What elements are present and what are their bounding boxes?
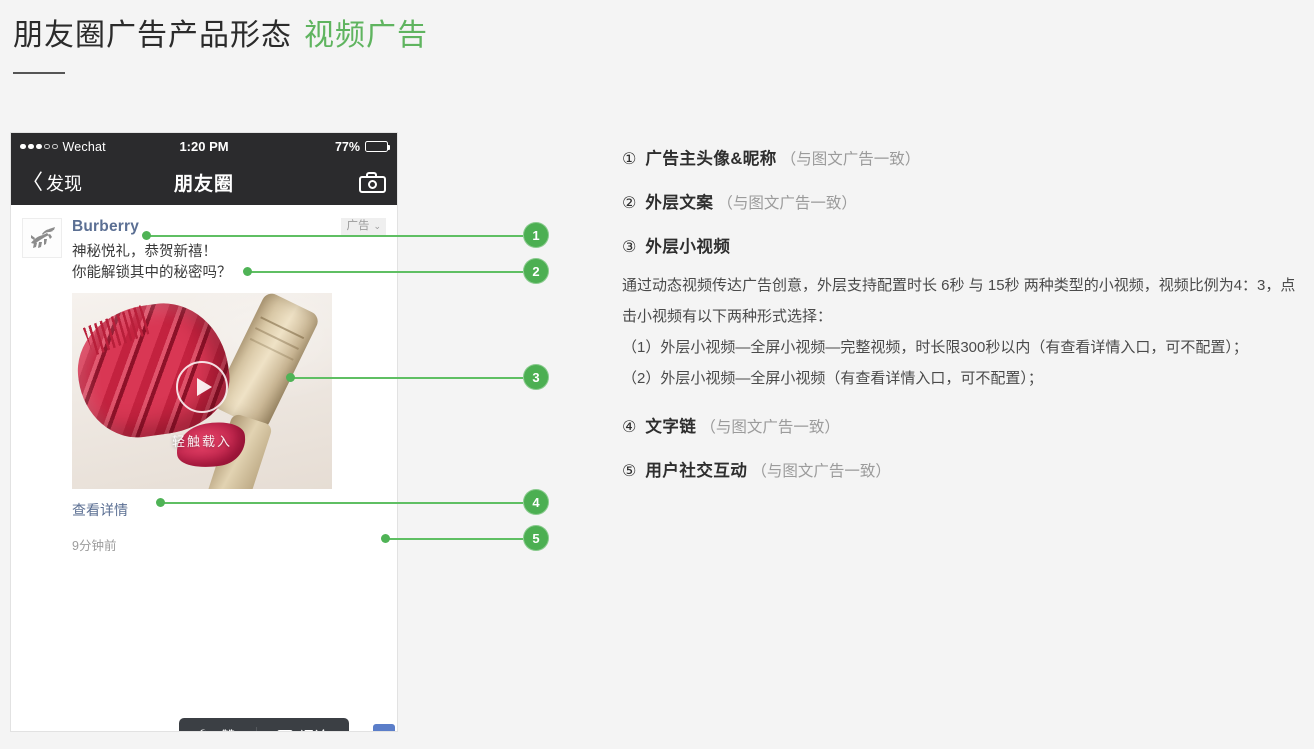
carrier-label: Wechat (63, 140, 106, 154)
post-text-line-2: 你能解锁其中的秘密吗？ (72, 263, 386, 284)
social-action-bar: 赞 评论 (179, 718, 349, 731)
legend-item-body: 通过动态视频传达广告创意，外层支持配置时长 6秒 与 15秒 两种类型的小视频，… (622, 270, 1298, 394)
advertiser-name[interactable]: Burberry (72, 218, 139, 236)
legend-item-note: （与图文广告一致） (781, 147, 921, 173)
status-bar-clock: 1:20 PM (179, 139, 228, 154)
legend-item-3: ③ 外层小视频 通过动态视频传达广告创意，外层支持配置时长 6秒 与 15秒 两… (622, 234, 1298, 394)
video-load-hint: 轻触载入 (72, 431, 332, 450)
advertiser-avatar[interactable] (22, 218, 62, 258)
legend-item-heading: ③ 外层小视频 (622, 234, 1298, 261)
callout-badge-label: 3 (532, 370, 539, 385)
callout-badge-label: 4 (532, 495, 539, 510)
legend-item-heading: ⑤ 用户社交互动 （与图文广告一致） (622, 458, 1298, 485)
post-header-row: Burberry 广告 ⌄ (72, 218, 386, 236)
legend-item-label: 外层文案 (645, 190, 713, 216)
status-bar-left: Wechat (20, 140, 179, 154)
legend-item-label: 广告主头像&昵称 (645, 146, 776, 172)
nav-bar-right (234, 172, 386, 193)
comment-label: 评论 (300, 726, 329, 731)
page-title-main: 朋友圈广告产品形态 (13, 19, 292, 52)
callout-badge-2[interactable]: 2 (523, 258, 549, 284)
more-actions-button[interactable] (373, 724, 395, 731)
back-button[interactable]: 〈 发现 (22, 170, 174, 196)
ad-label-badge[interactable]: 广告 ⌄ (341, 218, 386, 235)
legend-item-5: ⑤ 用户社交互动 （与图文广告一致） (622, 458, 1298, 485)
legend-item-heading: ② 外层文案 （与图文广告一致） (622, 190, 1298, 217)
burberry-knight-logo-icon (25, 221, 59, 255)
page-title: 朋友圈广告产品形态视频广告 (13, 14, 713, 58)
legend-item-number: ② (622, 191, 636, 217)
legend-item-number: ⑤ (622, 459, 636, 485)
legend-panel: ① 广告主头像&昵称 （与图文广告一致） ② 外层文案 （与图文广告一致） ③ … (622, 146, 1298, 502)
legend-item-number: ④ (622, 415, 636, 441)
legend-item-label: 文字链 (645, 414, 696, 440)
post-content: Burberry 广告 ⌄ 神秘悦礼，恭贺新禧！ 你能解锁其中的秘密吗？ (72, 218, 386, 558)
legend-body-paragraph: 通过动态视频传达广告创意，外层支持配置时长 6秒 与 15秒 两种类型的小视频，… (622, 270, 1298, 332)
callout-badge-4[interactable]: 4 (523, 489, 549, 515)
back-button-label: 发现 (46, 170, 82, 196)
chevron-left-icon: 〈 (22, 172, 43, 193)
video-thumbnail[interactable]: 轻触载入 (72, 293, 332, 489)
chevron-down-icon: ⌄ (373, 219, 381, 233)
moments-ad-post: Burberry 广告 ⌄ 神秘悦礼，恭贺新禧！ 你能解锁其中的秘密吗？ (11, 205, 397, 558)
legend-item-label: 用户社交互动 (645, 458, 747, 484)
post-text: 神秘悦礼，恭贺新禧！ 你能解锁其中的秘密吗？ (72, 242, 386, 284)
callout-badge-1[interactable]: 1 (523, 222, 549, 248)
nav-title: 朋友圈 (174, 169, 234, 196)
legend-item-1: ① 广告主头像&昵称 （与图文广告一致） (622, 146, 1298, 173)
camera-icon[interactable] (359, 172, 386, 193)
ad-label-text: 广告 (346, 219, 369, 233)
nav-bar: 〈 发现 朋友圈 (11, 160, 397, 205)
play-button-icon[interactable] (176, 361, 228, 413)
post-timestamp: 9分钟前 (72, 535, 116, 554)
status-bar: Wechat 1:20 PM 77% (11, 133, 397, 160)
callout-badge-label: 2 (532, 264, 539, 279)
like-button[interactable]: 赞 (179, 726, 256, 731)
page-header: 朋友圈广告产品形态视频广告 (13, 14, 713, 74)
view-detail-link[interactable]: 查看详情 (72, 500, 128, 520)
comment-button[interactable]: 评论 (257, 726, 349, 731)
callout-badge-label: 1 (532, 228, 539, 243)
legend-body-option-2: （2）外层小视频—全屏小视频（有查看详情入口，可不配置）； (622, 363, 1298, 394)
page-title-accent: 视频广告 (304, 19, 428, 52)
callout-badge-5[interactable]: 5 (523, 525, 549, 551)
legend-item-note: （与图文广告一致） (717, 191, 857, 217)
post-text-line-1: 神秘悦礼，恭贺新禧！ (72, 242, 386, 263)
legend-item-number: ① (622, 147, 636, 173)
legend-item-number: ③ (622, 235, 636, 261)
signal-strength-icon (20, 144, 58, 150)
legend-item-4: ④ 文字链 （与图文广告一致） (622, 414, 1298, 441)
post-meta-row: 9分钟前 (72, 530, 386, 558)
legend-item-note: （与图文广告一致） (700, 415, 840, 441)
status-bar-right: 77% (229, 140, 388, 154)
legend-item-note: （与图文广告一致） (751, 459, 891, 485)
legend-body-option-1: （1）外层小视频—全屏小视频—完整视频，时长限300秒以内（有查看详情入口，可不… (622, 332, 1298, 363)
battery-icon (365, 141, 388, 152)
comment-bubble-icon (277, 730, 293, 731)
legend-item-2: ② 外层文案 （与图文广告一致） (622, 190, 1298, 217)
title-underline-rule (13, 72, 65, 74)
legend-item-heading: ④ 文字链 （与图文广告一致） (622, 414, 1298, 441)
heart-icon (199, 730, 214, 732)
callout-badge-label: 5 (532, 531, 539, 546)
phone-mockup: Wechat 1:20 PM 77% 〈 发现 朋友圈 (11, 133, 397, 731)
legend-item-label: 外层小视频 (645, 234, 730, 260)
like-label: 赞 (221, 726, 236, 731)
callout-badge-3[interactable]: 3 (523, 364, 549, 390)
legend-item-heading: ① 广告主头像&昵称 （与图文广告一致） (622, 146, 1298, 173)
moments-feed: Burberry 广告 ⌄ 神秘悦礼，恭贺新禧！ 你能解锁其中的秘密吗？ (11, 205, 397, 558)
battery-percent-label: 77% (335, 140, 360, 154)
callout-line (385, 538, 523, 540)
